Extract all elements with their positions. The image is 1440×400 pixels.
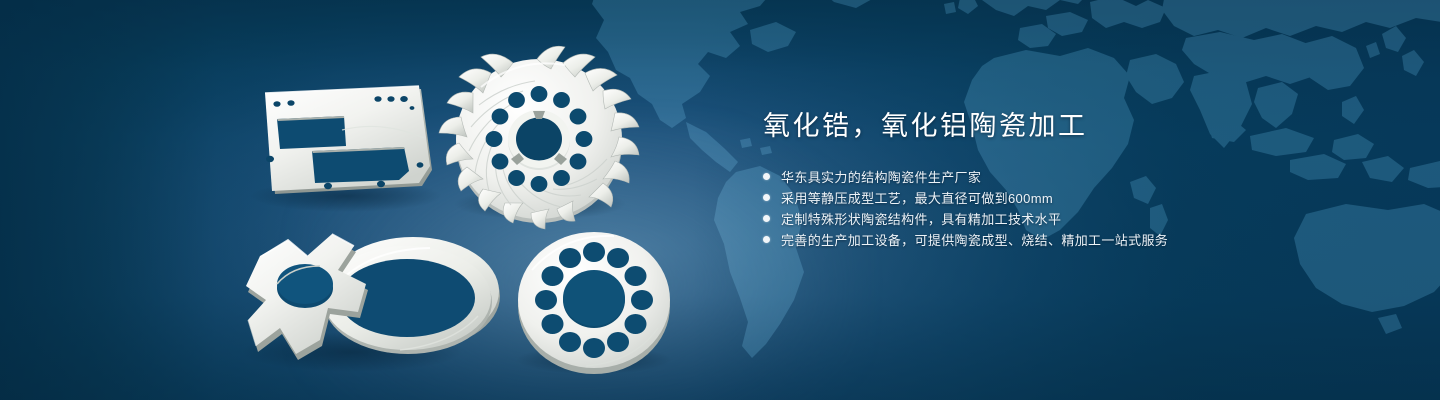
list-item: 完善的生产加工设备，可提供陶瓷成型、烧结、精加工一站式服务 [763,229,1323,250]
ceramic-perforated-disc [518,232,670,374]
ceramic-mounting-plate [265,86,432,194]
list-item: 采用等静压成型工艺，最大直径可做到600mm [763,187,1323,208]
bullet-dot-icon [763,173,770,180]
bullet-dot-icon [763,236,770,243]
list-item: 华东具实力的结构陶瓷件生产厂家 [763,166,1323,187]
bullet-dot-icon [763,194,770,201]
list-item-label: 定制特殊形状陶瓷结构件，具有精加工技术水平 [781,209,1061,228]
feature-list: 华东具实力的结构陶瓷件生产厂家 采用等静压成型工艺，最大直径可做到600mm 定… [763,166,1323,250]
list-item: 定制特殊形状陶瓷结构件，具有精加工技术水平 [763,208,1323,229]
hero-banner: 氧化锆，氧化铝陶瓷加工 华东具实力的结构陶瓷件生产厂家 采用等静压成型工艺，最大… [0,0,1440,400]
page-title: 氧化锆，氧化铝陶瓷加工 [763,106,1323,146]
ceramic-products-group [0,0,740,400]
list-item-label: 完善的生产加工设备，可提供陶瓷成型、烧结、精加工一站式服务 [781,230,1168,249]
bullet-dot-icon [763,215,770,222]
list-item-label: 采用等静压成型工艺，最大直径可做到600mm [781,188,1053,207]
banner-copy: 氧化锆，氧化铝陶瓷加工 华东具实力的结构陶瓷件生产厂家 采用等静压成型工艺，最大… [763,106,1323,250]
list-item-label: 华东具实力的结构陶瓷件生产厂家 [781,167,981,186]
